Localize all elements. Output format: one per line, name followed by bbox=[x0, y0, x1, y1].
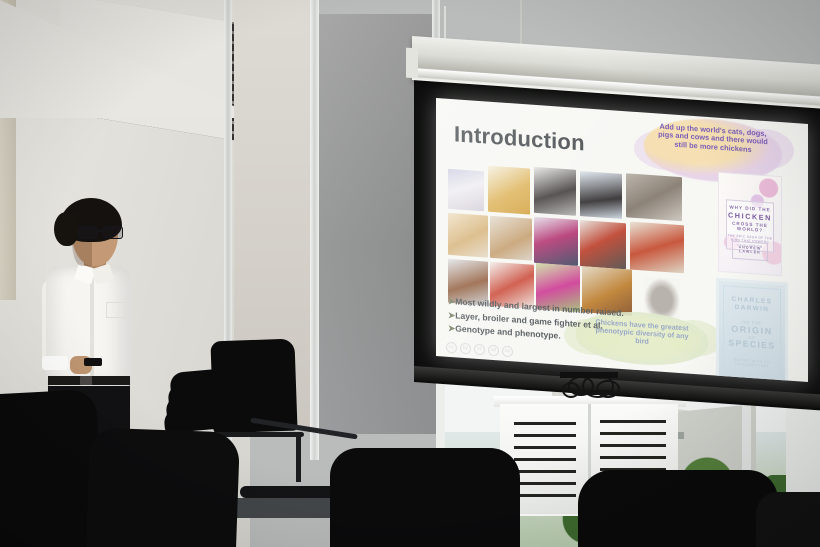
presenter-hair-side bbox=[54, 212, 78, 246]
chicken-photo bbox=[534, 217, 578, 266]
book-author-line: CHARLES DARWIN bbox=[724, 295, 780, 315]
projection-screen-housing-end bbox=[406, 48, 418, 79]
chicken-photo bbox=[448, 169, 484, 212]
screen-cord-2 bbox=[520, 0, 522, 44]
presentation-clicker bbox=[84, 358, 102, 366]
shirt-pocket bbox=[106, 302, 126, 318]
cc-by-icon: by bbox=[460, 343, 471, 355]
belt-buckle bbox=[80, 376, 92, 385]
shirt-cuff bbox=[42, 356, 68, 370]
chicken-photo bbox=[580, 171, 622, 219]
chair-back bbox=[756, 492, 820, 547]
chair-back bbox=[86, 427, 240, 547]
slide-content: Introduction bbox=[436, 98, 808, 382]
license-icon-group: cc by nc nd sa bbox=[446, 342, 513, 358]
book-footer: EDITED WITH AN INTRODUCTION bbox=[724, 358, 780, 370]
projected-slide: Introduction bbox=[436, 98, 808, 382]
slide-title: Introduction bbox=[454, 121, 585, 156]
cc-sa-icon: sa bbox=[502, 346, 513, 358]
book-author: ANDREW LAWLER bbox=[732, 241, 768, 262]
cc-icon: cc bbox=[446, 342, 457, 354]
chicken-photo-collage bbox=[448, 161, 704, 311]
cc-nc-icon: nc bbox=[474, 344, 485, 356]
chicken-photo bbox=[488, 166, 530, 215]
eyeglasses-icon bbox=[78, 226, 122, 237]
book-inner-frame: CHARLES DARWIN ON THE ORIGIN OF SPECIES … bbox=[723, 285, 781, 377]
book-cover-chicken-cross-world: WHY DID THE CHICKEN CROSS THE WORLD? THE… bbox=[718, 172, 782, 276]
book-title-2: SPECIES bbox=[724, 339, 780, 352]
book-line-3: CROSS THE WORLD? bbox=[727, 220, 773, 233]
chicken-photo bbox=[490, 216, 532, 261]
chair-back bbox=[578, 470, 778, 547]
trolley-leg bbox=[296, 432, 301, 482]
chicken-photo bbox=[534, 167, 576, 216]
projector-cable-bundle bbox=[556, 372, 652, 406]
book-cover-origin-of-species: CHARLES DARWIN ON THE ORIGIN OF SPECIES … bbox=[716, 278, 788, 382]
chicken-photo bbox=[580, 220, 626, 269]
chicken-photo bbox=[630, 222, 684, 274]
chicken-photo bbox=[448, 213, 488, 258]
presentation-room-photo: Introduction bbox=[0, 0, 820, 547]
chair-back bbox=[330, 448, 520, 547]
cc-nd-icon: nd bbox=[488, 345, 499, 357]
chicken-photo bbox=[626, 173, 682, 221]
